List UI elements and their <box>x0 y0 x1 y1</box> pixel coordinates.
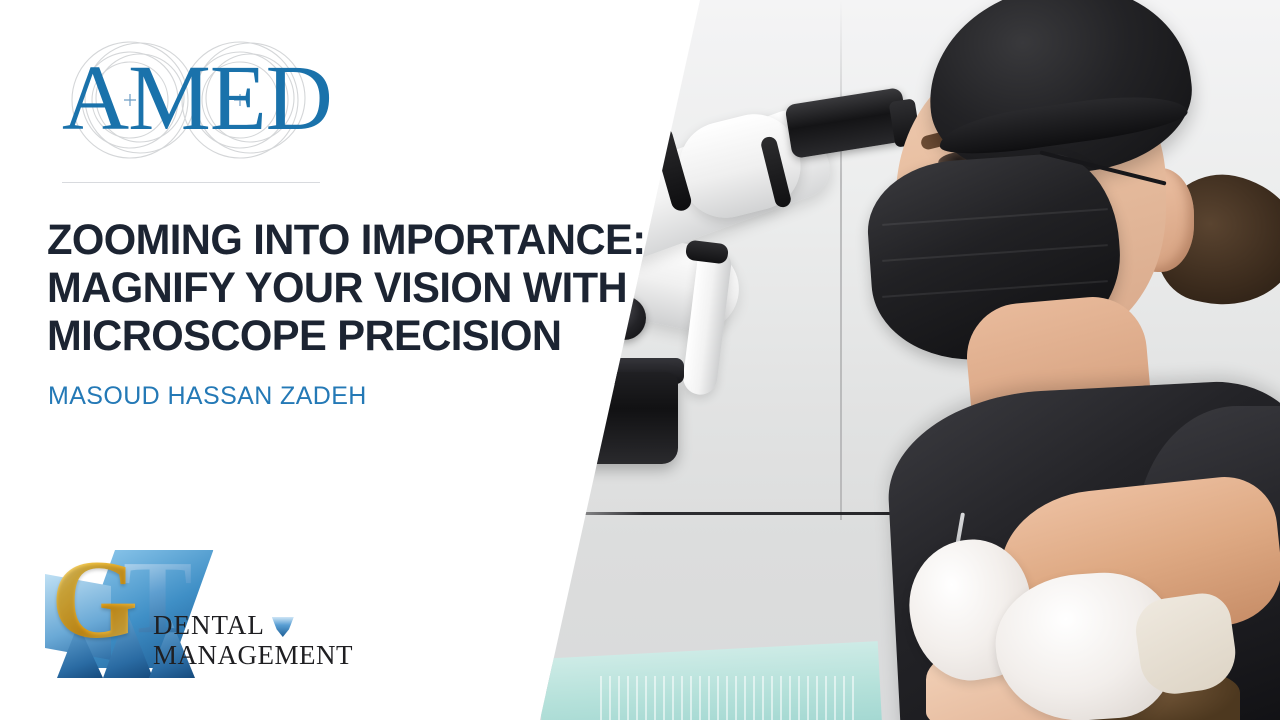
hero-photo <box>540 0 1280 720</box>
gt-dental-management-logo[interactable]: T G DENTAL MANAGEMENT <box>45 548 320 678</box>
wall-seam <box>840 0 842 520</box>
diamond-gem-icon <box>272 617 294 637</box>
title-line-1: ZOOMING INTO IMPORTANCE: <box>47 216 726 264</box>
presentation-slide: AMED ZOOMING INTO IMPORTANCE: MAGNIFY YO… <box>0 0 1280 720</box>
title-line-3: MICROSCOPE PRECISION <box>47 312 726 360</box>
logo-wordmark-line-2: MANAGEMENT <box>153 640 353 670</box>
patient-bib-texture <box>600 676 860 720</box>
title-line-2: MAGNIFY YOUR VISION WITH <box>47 264 726 312</box>
logo-wordmark: DENTAL MANAGEMENT <box>153 610 353 670</box>
amed-logo[interactable]: AMED <box>62 34 332 164</box>
amed-wordmark: AMED <box>62 34 332 164</box>
logo-divider <box>62 182 320 183</box>
speaker-name: MASOUD HASSAN ZADEH <box>48 382 367 411</box>
photo-background <box>540 0 1280 720</box>
microscope-eyepiece <box>785 87 910 159</box>
microscope-objective-lens <box>550 372 678 464</box>
logo-dental-text: DENTAL <box>153 610 265 640</box>
logo-monogram-g: G <box>51 544 138 656</box>
page-title: ZOOMING INTO IMPORTANCE: MAGNIFY YOUR VI… <box>47 216 726 360</box>
logo-wordmark-line-1: DENTAL <box>153 610 353 640</box>
